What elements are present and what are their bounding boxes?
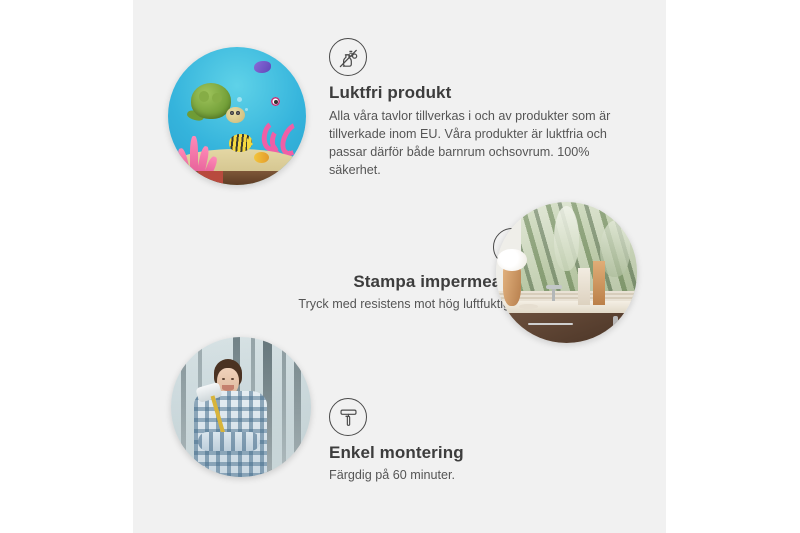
small-fish-illustration [254, 152, 269, 163]
soap-bottle [578, 268, 591, 305]
coral-illustration [179, 133, 215, 177]
woman-painter [191, 359, 269, 477]
bathroom-scene [496, 202, 637, 343]
purple-fish-illustration [254, 61, 272, 73]
forest-mural-background [171, 337, 311, 477]
feature-title: Enkel montering [329, 443, 609, 463]
octopus-illustration [262, 88, 306, 160]
promo-graphic: Luktfri produkt Alla våra tavlor tillver… [0, 0, 800, 533]
no-fragrance-icon [329, 38, 367, 76]
feature-description: Tryck med resistens mot hög luftfuktighe… [201, 296, 531, 314]
feature-title: Luktfri produkt [329, 83, 629, 103]
turtle-illustration [187, 83, 242, 129]
striped-fish-illustration [229, 134, 252, 152]
feature-description: Färgdig på 60 minuter. [329, 467, 609, 485]
white-flowers [497, 249, 527, 272]
feature-description: Alla våra tavlor tillverkas i och av pro… [329, 108, 629, 180]
feature-block-odourless: Luktfri produkt Alla våra tavlor tillver… [329, 38, 629, 180]
crossed-arms [198, 432, 259, 451]
bathroom-tropical-wallpaper-image [496, 202, 637, 343]
soap-dish [519, 304, 539, 310]
room-floor-strip [168, 171, 306, 185]
octopus-head [265, 88, 306, 124]
bubble-icon [245, 108, 248, 111]
paint-roller-icon [329, 398, 367, 436]
feature-panel: Luktfri produkt Alla våra tavlor tillver… [133, 0, 666, 533]
kids-underwater-mural-image [168, 47, 306, 185]
feature-block-easy-install: Enkel montering Färgdig på 60 minuter. [329, 398, 609, 485]
wood-vanity-cabinet [504, 313, 637, 343]
feature-title: Stampa impermeabile [201, 272, 531, 292]
octopus-eye [271, 97, 280, 106]
painter-forest-wallpaper-image [171, 337, 311, 477]
turtle-head [226, 107, 245, 123]
feature-block-waterproof: Stampa impermeabile Tryck med resistens … [201, 228, 531, 314]
wood-container [593, 261, 604, 305]
ocean-background [168, 47, 306, 185]
